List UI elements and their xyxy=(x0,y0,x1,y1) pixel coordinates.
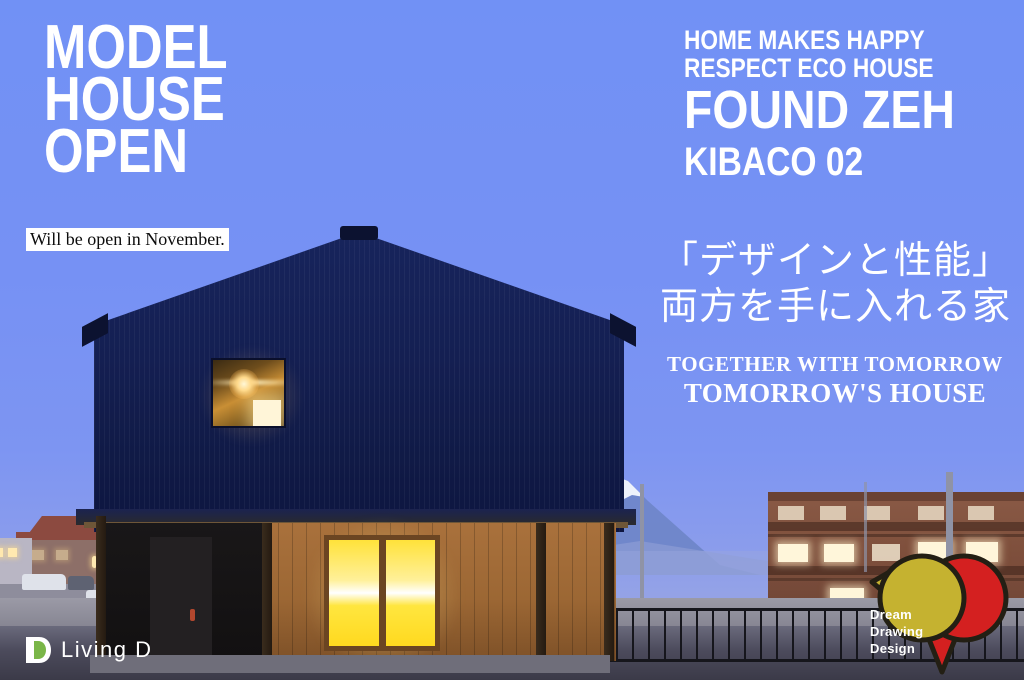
entry-door xyxy=(150,537,212,655)
house-lower-floor xyxy=(96,523,616,661)
japanese-line-2: 両方を手に入れる家 xyxy=(660,284,1010,330)
porch-post-right xyxy=(536,523,546,661)
living-d-label: Living D xyxy=(61,637,152,663)
japanese-copy: 「デザインと性能」 両方を手に入れる家 xyxy=(660,238,1010,330)
upper-square-window xyxy=(211,358,286,428)
logo-tagline-line-1: Dream xyxy=(870,606,923,623)
right-headline: HOME MAKES HAPPY RESPECT ECO HOUSE FOUND… xyxy=(684,26,1014,184)
logo-tagline-line-3: Design xyxy=(870,640,923,657)
living-d-logo: Living D xyxy=(26,636,152,664)
logo-tagline-line-2: Drawing xyxy=(870,623,923,640)
porch-post-left xyxy=(262,523,272,661)
japanese-line-1: 「デザインと性能」 xyxy=(660,238,1010,284)
roof-ridge-cap xyxy=(340,226,378,240)
ground-floor-lit-window xyxy=(324,535,440,651)
opening-note: Will be open in November. xyxy=(26,228,229,251)
tagline-line-1: TOGETHER WITH TOMORROW xyxy=(660,352,1010,377)
kicker-line-1: HOME MAKES HAPPY xyxy=(684,26,961,54)
poster-banner: MODEL HOUSE OPEN Will be open in Novembe… xyxy=(0,0,1024,680)
utility-pole xyxy=(640,484,644,604)
logo-tagline: Dream Drawing Design xyxy=(870,606,923,657)
dream-drawing-design-logo: Dream Drawing Design xyxy=(866,548,1018,680)
model-house xyxy=(94,232,624,532)
product-title: FOUND ZEH xyxy=(684,84,968,136)
house-gable-wall xyxy=(94,232,624,532)
tagline-line-2: TOMORROW'S HOUSE xyxy=(660,378,1010,409)
product-subtitle: KIBACO 02 xyxy=(684,140,961,184)
left-headline: MODEL HOUSE OPEN xyxy=(44,22,268,178)
headline-line-3: OPEN xyxy=(44,126,228,178)
door-handle xyxy=(190,609,195,621)
foundation-slab xyxy=(90,655,610,673)
porch-post-far-right xyxy=(604,523,614,661)
letter-d-monogram-icon xyxy=(26,636,52,664)
kicker-line-2: RESPECT ECO HOUSE xyxy=(684,54,961,82)
